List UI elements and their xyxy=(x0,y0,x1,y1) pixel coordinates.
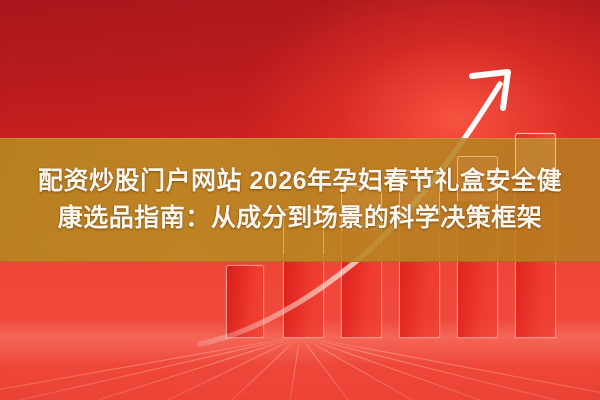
banner-title: 配资炒股门户网站 2026年孕妇春节礼盒安全健 康选品指南：从成分到场景的科学决… xyxy=(0,138,600,262)
title-line-2: 康选品指南：从成分到场景的科学决策框架 xyxy=(58,204,543,234)
title-line-1: 配资炒股门户网站 2026年孕妇春节礼盒安全健 xyxy=(38,167,562,197)
banner-image: 配资炒股门户网站 2026年孕妇春节礼盒安全健 康选品指南：从成分到场景的科学决… xyxy=(0,0,600,400)
